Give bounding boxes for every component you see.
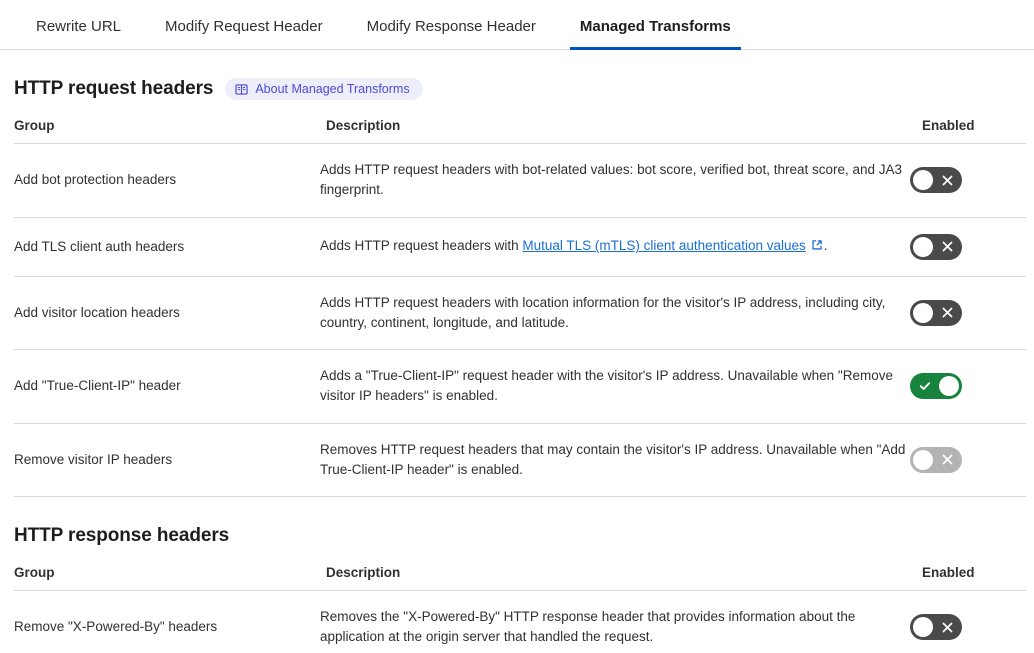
- enabled-toggle[interactable]: [910, 614, 962, 640]
- row-description: Adds a "True-Client-IP" request header w…: [320, 350, 910, 424]
- toggle-x-icon: [933, 447, 962, 473]
- about-badge-label: About Managed Transforms: [255, 82, 409, 96]
- column-header-enabled: Enabled: [910, 565, 1026, 591]
- table-row: Remove "X-Powered-By" headers Removes th…: [14, 591, 1026, 653]
- row-group-label: Remove "X-Powered-By" headers: [14, 591, 320, 653]
- tab-rewrite-url[interactable]: Rewrite URL: [14, 19, 143, 49]
- toggle-check-icon: [910, 373, 939, 399]
- row-enabled-cell: [910, 423, 1026, 497]
- column-header-description: Description: [320, 565, 910, 591]
- table-header-row: Group Description Enabled: [14, 565, 1026, 591]
- toggle-knob: [939, 376, 959, 396]
- section-header: HTTP response headers: [14, 525, 1026, 547]
- section-http-response-headers: HTTP response headers Group Description …: [0, 525, 1034, 653]
- external-link-icon[interactable]: [806, 238, 824, 253]
- tab-modify-request-header[interactable]: Modify Request Header: [143, 19, 345, 49]
- tab-label: Modify Response Header: [367, 18, 536, 35]
- row-enabled-cell: [910, 276, 1026, 350]
- row-description: Removes the "X-Powered-By" HTTP response…: [320, 591, 910, 653]
- table-head: Group Description Enabled: [14, 565, 1026, 591]
- column-header-enabled: Enabled: [910, 118, 1026, 144]
- row-description: Adds HTTP request headers with bot-relat…: [320, 144, 910, 218]
- column-header-description: Description: [320, 118, 910, 144]
- enabled-toggle[interactable]: [910, 300, 962, 326]
- row-enabled-cell: [910, 591, 1026, 653]
- enabled-toggle[interactable]: [910, 167, 962, 193]
- row-group-label: Remove visitor IP headers: [14, 423, 320, 497]
- table-body: Remove "X-Powered-By" headers Removes th…: [14, 591, 1026, 653]
- tab-managed-transforms[interactable]: Managed Transforms: [558, 19, 753, 49]
- section-title: HTTP request headers: [14, 78, 213, 100]
- row-enabled-cell: [910, 217, 1026, 276]
- toggle-knob: [913, 617, 933, 637]
- description-link[interactable]: Mutual TLS (mTLS) client authentication …: [522, 238, 805, 253]
- toggle-knob: [913, 303, 933, 323]
- toggle-knob: [913, 237, 933, 257]
- tab-modify-response-header[interactable]: Modify Response Header: [345, 19, 558, 49]
- tab-label: Managed Transforms: [580, 18, 731, 35]
- tab-label: Rewrite URL: [36, 18, 121, 35]
- toggle-x-icon: [933, 614, 962, 640]
- managed-transforms-content: HTTP request headers About Managed Trans…: [0, 78, 1034, 653]
- row-enabled-cell: [910, 350, 1026, 424]
- toggle-x-icon: [933, 234, 962, 260]
- managed-transforms-table: Group Description Enabled Remove "X-Powe…: [14, 565, 1026, 653]
- table-row: Remove visitor IP headers Removes HTTP r…: [14, 423, 1026, 497]
- row-description: Adds HTTP request headers with location …: [320, 276, 910, 350]
- toggle-knob: [913, 170, 933, 190]
- section-http-request-headers: HTTP request headers About Managed Trans…: [0, 78, 1034, 497]
- book-icon: [235, 83, 248, 96]
- toggle-x-icon: [933, 167, 962, 193]
- table-head: Group Description Enabled: [14, 118, 1026, 144]
- table-row: Add bot protection headers Adds HTTP req…: [14, 144, 1026, 218]
- column-header-group: Group: [14, 565, 320, 591]
- row-group-label: Add "True-Client-IP" header: [14, 350, 320, 424]
- section-header: HTTP request headers About Managed Trans…: [14, 78, 1026, 100]
- tab-bar: Rewrite URL Modify Request Header Modify…: [0, 0, 1034, 50]
- section-title: HTTP response headers: [14, 525, 229, 547]
- table-body: Add bot protection headers Adds HTTP req…: [14, 144, 1026, 497]
- table-row: Add TLS client auth headers Adds HTTP re…: [14, 217, 1026, 276]
- row-enabled-cell: [910, 144, 1026, 218]
- toggle-x-icon: [933, 300, 962, 326]
- about-managed-transforms-badge[interactable]: About Managed Transforms: [225, 78, 422, 100]
- enabled-toggle[interactable]: [910, 234, 962, 260]
- tab-label: Modify Request Header: [165, 18, 323, 35]
- row-group-label: Add bot protection headers: [14, 144, 320, 218]
- table-row: Add "True-Client-IP" header Adds a "True…: [14, 350, 1026, 424]
- table-row: Add visitor location headers Adds HTTP r…: [14, 276, 1026, 350]
- table-header-row: Group Description Enabled: [14, 118, 1026, 144]
- toggle-knob: [913, 450, 933, 470]
- row-description: Removes HTTP request headers that may co…: [320, 423, 910, 497]
- row-group-label: Add visitor location headers: [14, 276, 320, 350]
- enabled-toggle: [910, 447, 962, 473]
- managed-transforms-table: Group Description Enabled Add bot protec…: [14, 118, 1026, 497]
- column-header-group: Group: [14, 118, 320, 144]
- row-group-label: Add TLS client auth headers: [14, 217, 320, 276]
- enabled-toggle[interactable]: [910, 373, 962, 399]
- row-description: Adds HTTP request headers with Mutual TL…: [320, 217, 910, 276]
